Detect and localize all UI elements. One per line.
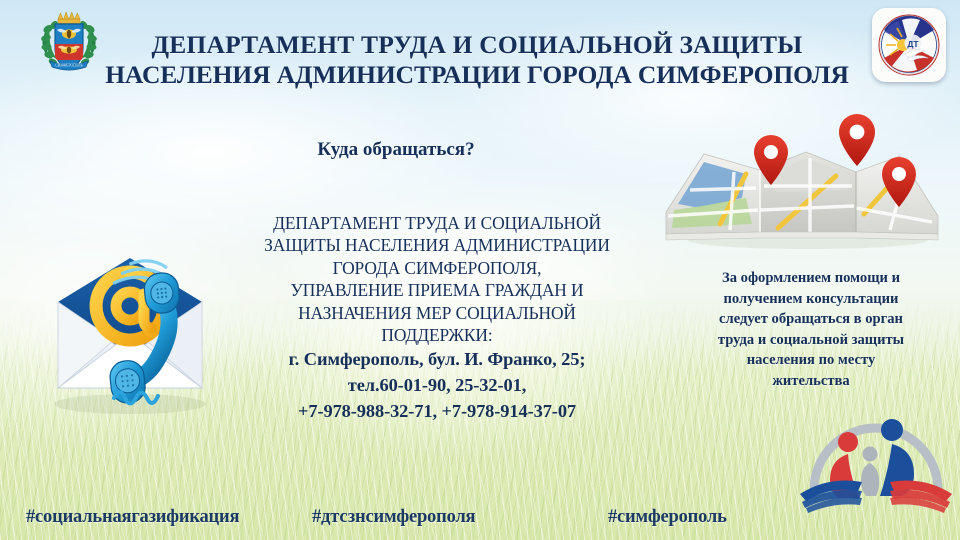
phone-line-2: +7-978-988-32-71, +7-978-914-37-07 bbox=[222, 399, 652, 424]
organization-address-block: ДЕПАРТАМЕНТ ТРУДА И СОЦИАЛЬНОЙ ЗАЩИТЫ НА… bbox=[222, 212, 652, 424]
org-line-6: ПОДДЕРЖКИ: bbox=[222, 324, 652, 346]
subheading-where-to-apply: Куда обращаться? bbox=[236, 139, 556, 161]
hashtag-2[interactable]: #дтсзнсимферополя bbox=[312, 507, 475, 528]
org-line-3: ГОРОДА СИМФЕРОПОЛЯ, bbox=[222, 257, 652, 279]
social-support-family-logo-icon bbox=[796, 398, 956, 506]
hashtag-bar: #социальнаягазификация #дтсзнсимферополя… bbox=[0, 500, 960, 536]
org-line-1: ДЕПАРТАМЕНТ ТРУДА И СОЦИАЛЬНОЙ bbox=[222, 212, 652, 234]
title-line-2: НАСЕЛЕНИЯ АДМИНИСТРАЦИИ ГОРОДА СИМФЕРОПО… bbox=[72, 60, 882, 90]
side-note-text: За оформлением помощи и получением консу… bbox=[666, 268, 956, 392]
folded-map-with-location-pins-illustration bbox=[660, 112, 950, 260]
side-note-line-5: населения по месту bbox=[666, 350, 956, 371]
side-note-line-2: получением консультации bbox=[666, 289, 956, 310]
svg-text:ДТ: ДТ bbox=[907, 39, 919, 49]
side-note-line-1: За оформлением помощи и bbox=[666, 268, 956, 289]
page-title: ДЕПАРТАМЕНТ ТРУДА И СОЦИАЛЬНОЙ ЗАЩИТЫ НА… bbox=[72, 30, 882, 90]
org-line-5: НАЗНАЧЕНИЯ МЕР СОЦИАЛЬНОЙ bbox=[222, 302, 652, 324]
side-note-line-3: следует обращаться в орган bbox=[666, 309, 956, 330]
side-note-line-6: жительства bbox=[666, 371, 956, 392]
hashtag-3[interactable]: #симферополь bbox=[608, 507, 727, 528]
dtszn-emblem-icon: ДТ bbox=[872, 8, 946, 82]
header: СИМФЕРОПОЛЬ ДЕПАРТАМЕНТ ТРУДА И СОЦИАЛЬН… bbox=[0, 0, 960, 118]
org-line-4: УПРАВЛЕНИЕ ПРИЕМА ГРАЖДАН И bbox=[222, 279, 652, 301]
street-address: г. Симферополь, бул. И. Франко, 25; bbox=[222, 347, 652, 372]
org-line-2: ЗАЩИТЫ НАСЕЛЕНИЯ АДМИНИСТРАЦИИ bbox=[222, 234, 652, 256]
email-envelope-and-telephone-illustration bbox=[18, 236, 244, 418]
title-line-1: ДЕПАРТАМЕНТ ТРУДА И СОЦИАЛЬНОЙ ЗАЩИТЫ bbox=[72, 30, 882, 60]
phone-line-1: тел.60-01-90, 25-32-01, bbox=[222, 373, 652, 398]
hashtag-1[interactable]: #социальнаягазификация bbox=[26, 507, 239, 528]
side-note-line-4: труда и социальной защиты bbox=[666, 330, 956, 351]
